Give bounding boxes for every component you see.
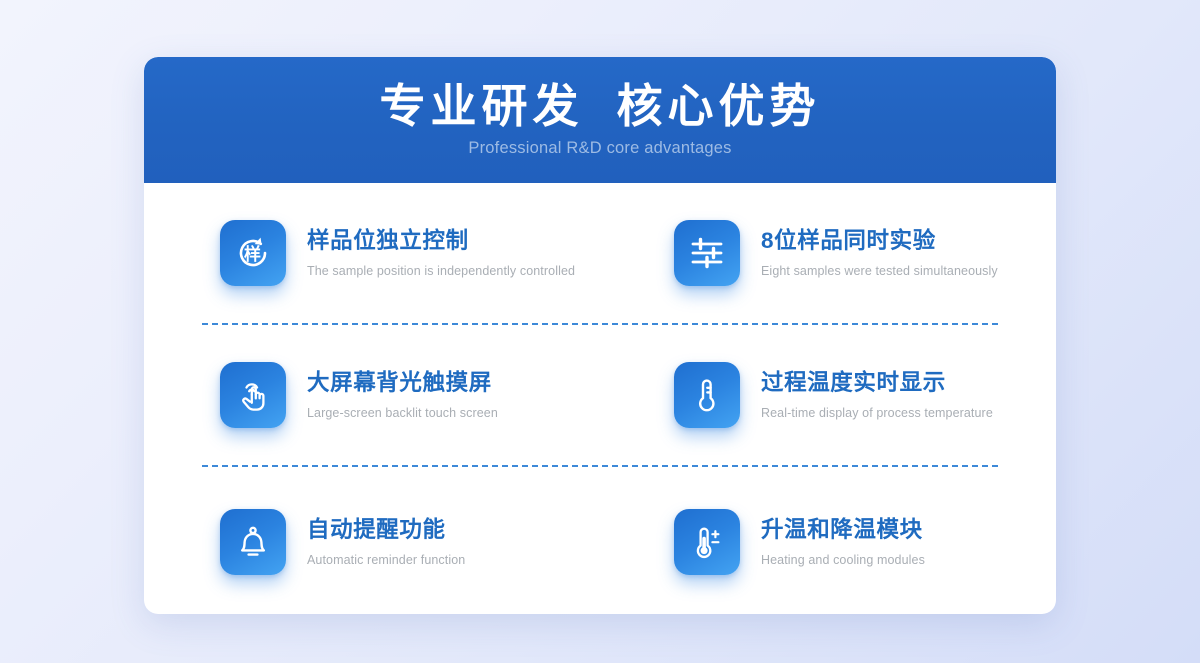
feature-title: 大屏幕背光触摸屏	[307, 369, 498, 397]
sample-rotation-icon: 样	[220, 220, 286, 286]
feature-description: Eight samples were tested simultaneously	[761, 263, 998, 279]
thermometer-plus-minus-icon	[674, 509, 740, 575]
feature-item-auto-reminder[interactable]: 自动提醒功能 Automatic reminder function	[144, 467, 600, 614]
feature-description: Automatic reminder function	[307, 552, 465, 568]
page-title: 专业研发 核心优势	[144, 57, 1056, 135]
svg-text:样: 样	[244, 244, 261, 265]
feature-text: 升温和降温模块 Heating and cooling modules	[761, 516, 925, 568]
feature-title: 样品位独立控制	[307, 227, 575, 255]
touch-hand-icon	[220, 362, 286, 428]
feature-description: Heating and cooling modules	[761, 552, 925, 568]
feature-item-process-temperature[interactable]: 过程温度实时显示 Real-time display of process te…	[600, 325, 1056, 465]
features-grid: 样 样品位独立控制 The sample position is indepen…	[144, 183, 1056, 614]
feature-text: 过程温度实时显示 Real-time display of process te…	[761, 369, 993, 421]
sliders-icon	[674, 220, 740, 286]
feature-row: 样 样品位独立控制 The sample position is indepen…	[144, 183, 1056, 323]
feature-row: 大屏幕背光触摸屏 Large-screen backlit touch scre…	[144, 325, 1056, 465]
feature-text: 8位样品同时实验 Eight samples were tested simul…	[761, 227, 998, 279]
feature-text: 大屏幕背光触摸屏 Large-screen backlit touch scre…	[307, 369, 498, 421]
feature-row: 自动提醒功能 Automatic reminder function	[144, 467, 1056, 614]
feature-title: 过程温度实时显示	[761, 369, 993, 397]
page-root: 专业研发 核心优势 Professional R&D core advantag…	[0, 0, 1200, 663]
feature-description: The sample position is independently con…	[307, 263, 575, 279]
feature-item-eight-samples[interactable]: 8位样品同时实验 Eight samples were tested simul…	[600, 183, 1056, 323]
advantages-card: 专业研发 核心优势 Professional R&D core advantag…	[144, 57, 1056, 614]
feature-item-touch-screen[interactable]: 大屏幕背光触摸屏 Large-screen backlit touch scre…	[144, 325, 600, 465]
feature-title: 自动提醒功能	[307, 516, 465, 544]
feature-title: 升温和降温模块	[761, 516, 925, 544]
feature-description: Real-time display of process temperature	[761, 405, 993, 421]
card-header: 专业研发 核心优势 Professional R&D core advantag…	[144, 57, 1056, 183]
bell-icon	[220, 509, 286, 575]
feature-title: 8位样品同时实验	[761, 227, 998, 255]
feature-text: 自动提醒功能 Automatic reminder function	[307, 516, 465, 568]
feature-description: Large-screen backlit touch screen	[307, 405, 498, 421]
feature-text: 样品位独立控制 The sample position is independe…	[307, 227, 575, 279]
page-subtitle: Professional R&D core advantages	[144, 139, 1056, 158]
feature-item-heating-cooling[interactable]: 升温和降温模块 Heating and cooling modules	[600, 467, 1056, 614]
thermometer-icon	[674, 362, 740, 428]
feature-item-sample-position[interactable]: 样 样品位独立控制 The sample position is indepen…	[144, 183, 600, 323]
